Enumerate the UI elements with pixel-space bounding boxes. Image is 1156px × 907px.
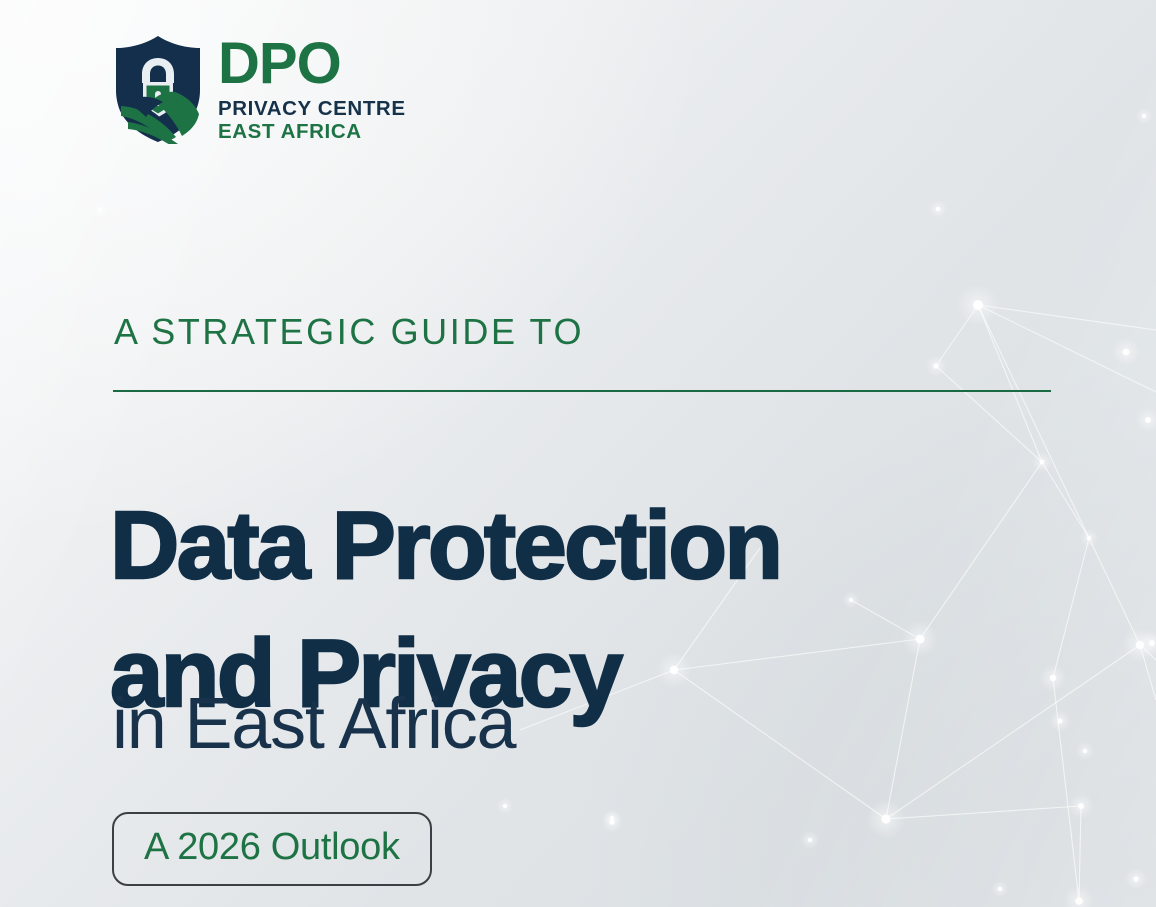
- brand-logo[interactable]: DPO PRIVACY CENTRE EAST AFRICA: [112, 34, 406, 144]
- shield-lock-fields-icon: [112, 34, 204, 144]
- logo-wordmark-group: DPO PRIVACY CENTRE EAST AFRICA: [218, 34, 406, 144]
- title-divider-rule: [113, 390, 1051, 392]
- cover-page: DPO PRIVACY CENTRE EAST AFRICA A STRATEG…: [0, 0, 1156, 907]
- page-subtitle: in East Africa: [112, 686, 515, 762]
- logo-tagline-line-1: PRIVACY CENTRE: [218, 98, 406, 121]
- cover-kicker: A STRATEGIC GUIDE TO: [114, 311, 584, 353]
- logo-wordmark: DPO: [218, 36, 406, 93]
- outlook-badge: A 2026 Outlook: [112, 812, 432, 886]
- logo-tagline-line-2: EAST AFRICA: [218, 121, 406, 144]
- page-title-line-1: Data Protection: [110, 482, 1100, 610]
